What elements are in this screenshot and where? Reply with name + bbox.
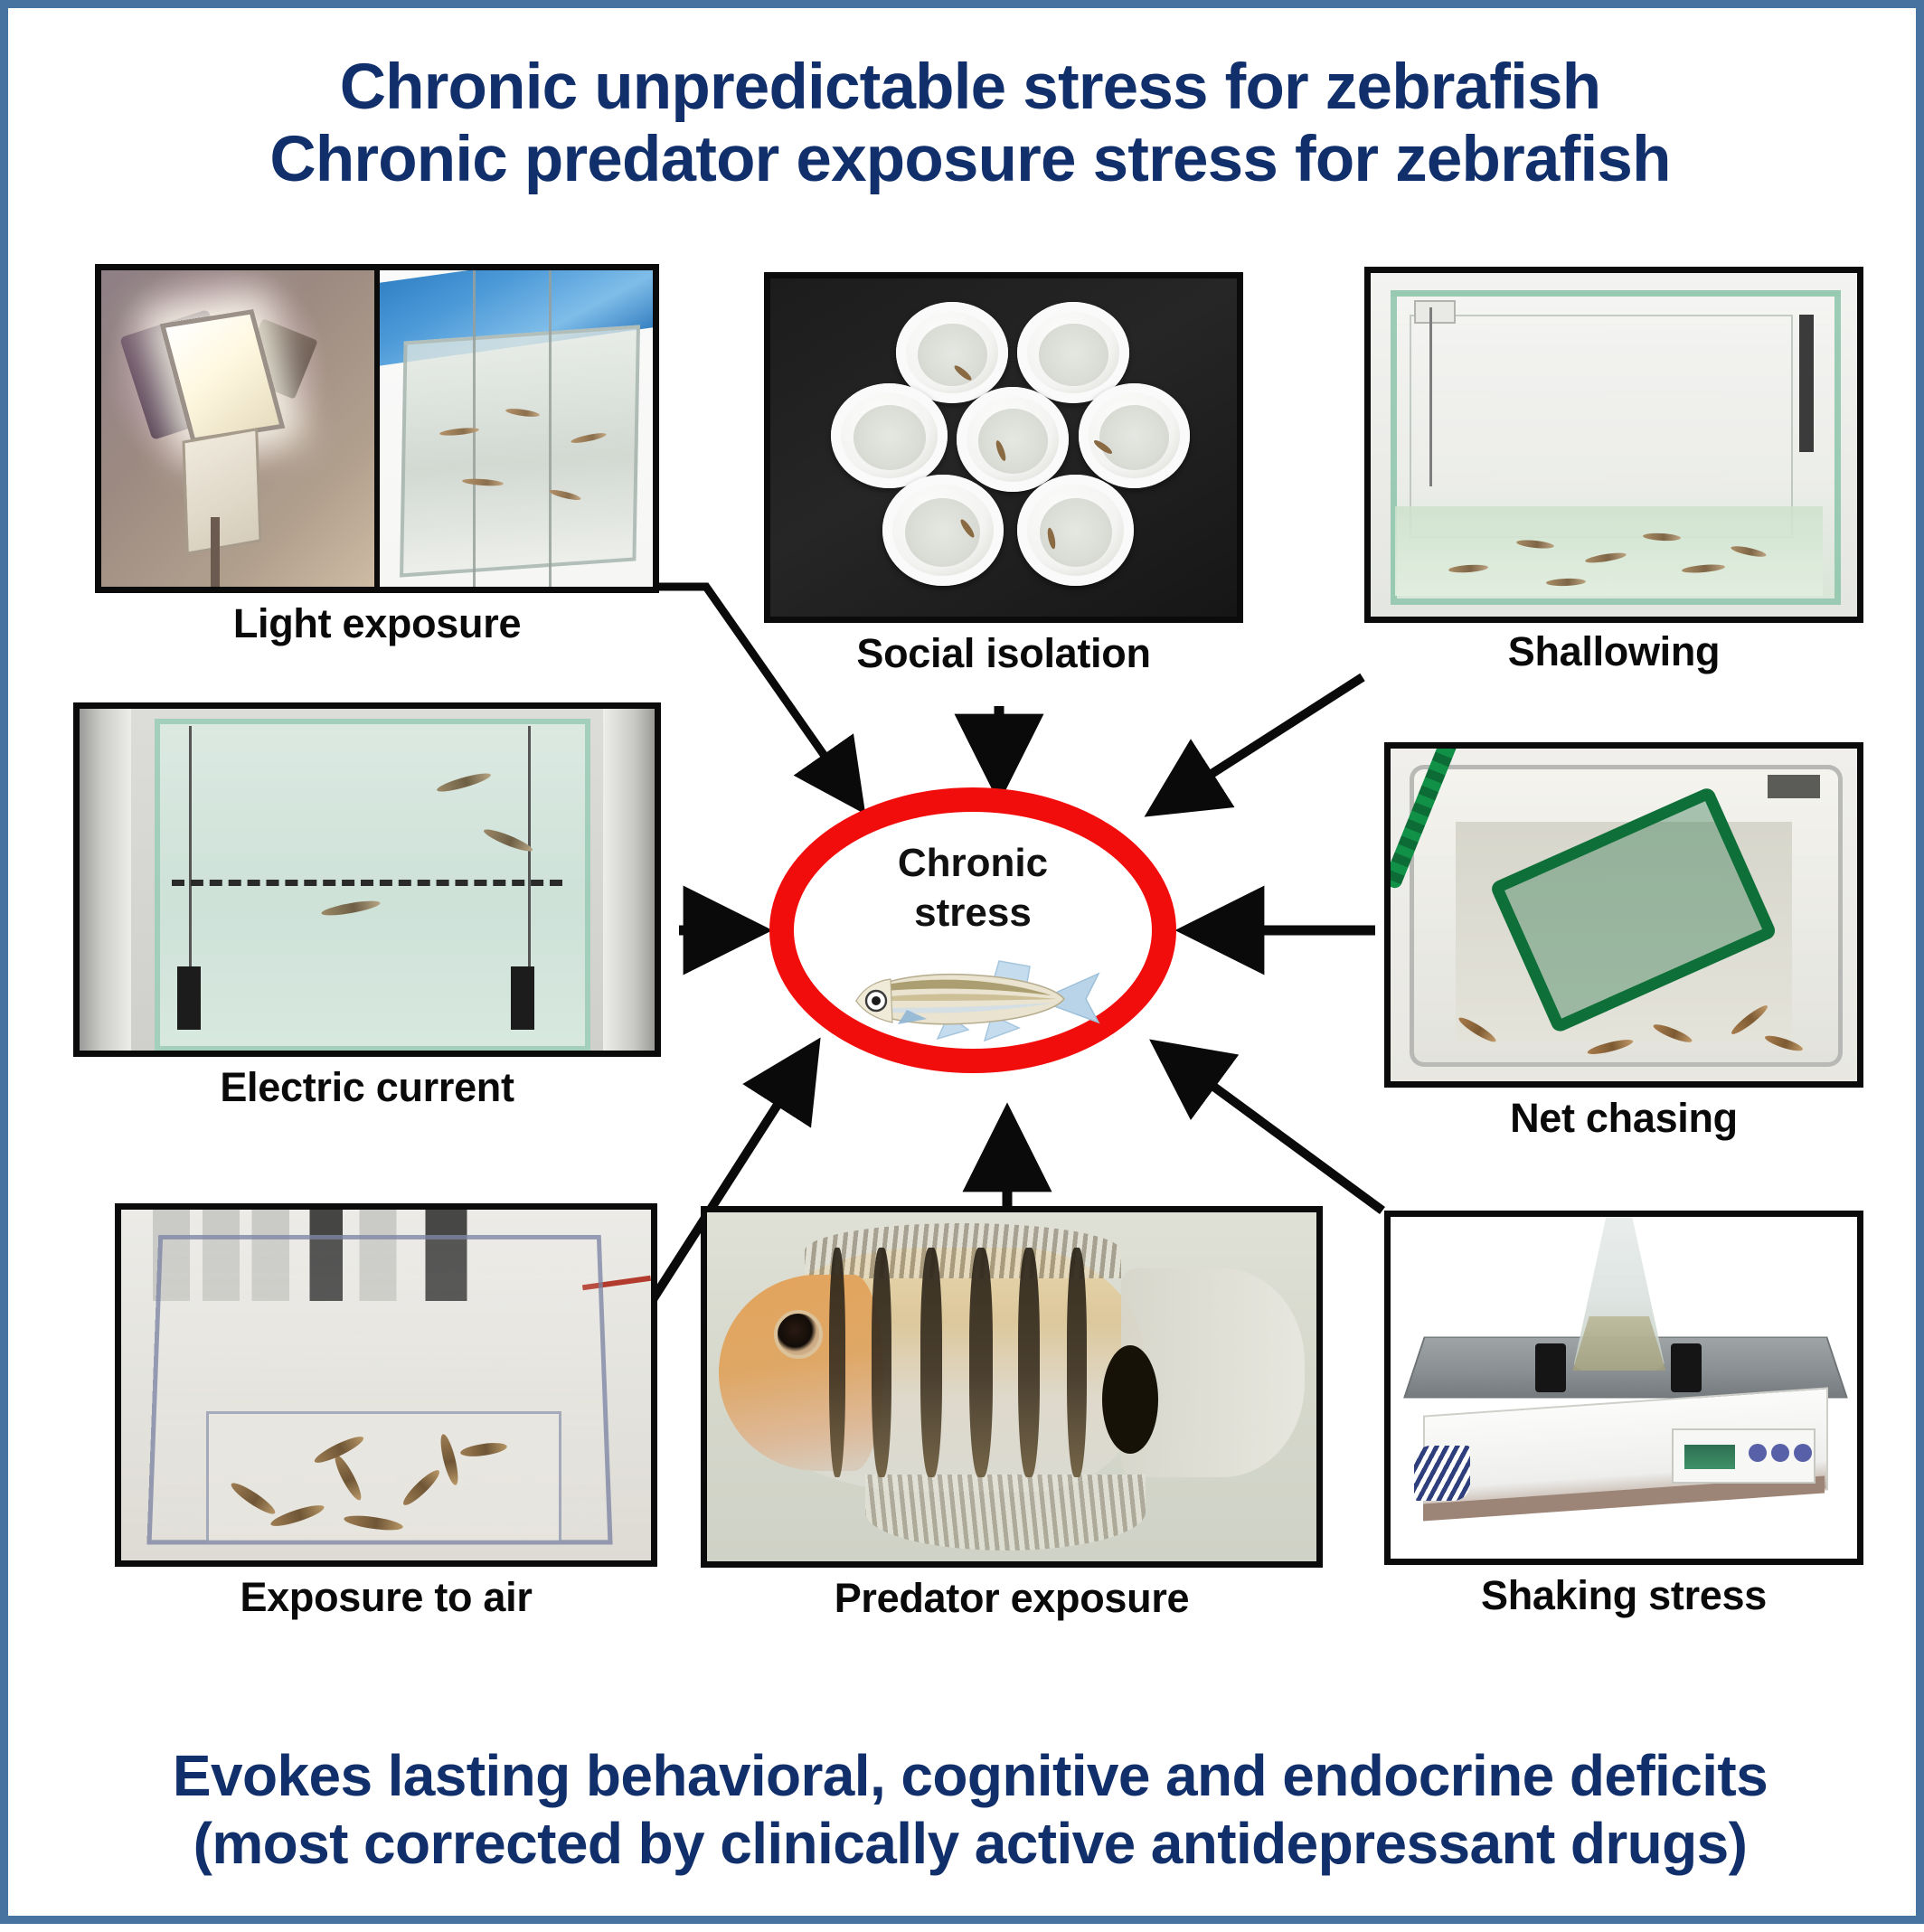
panel-label-shaking-stress: Shaking stress bbox=[1384, 1572, 1863, 1619]
panel-shallowing: Shallowing bbox=[1364, 267, 1863, 654]
central-chronic-stress-node: Chronic stress bbox=[769, 787, 1176, 1073]
footer-line-1: Evokes lasting behavioral, cognitive and… bbox=[8, 1742, 1924, 1810]
panel-label-electric-current: Electric current bbox=[73, 1064, 661, 1111]
figure-root: Chronic unpredictable stress for zebrafi… bbox=[0, 0, 1924, 1924]
footer-line-2: (most corrected by clinically active ant… bbox=[8, 1810, 1924, 1878]
title-line-1: Chronic unpredictable stress for zebrafi… bbox=[8, 52, 1924, 124]
sub-image-lamp bbox=[101, 270, 380, 587]
panel-image-social-isolation bbox=[764, 272, 1243, 623]
panel-label-exposure-to-air: Exposure to air bbox=[115, 1574, 657, 1621]
panel-label-predator-exposure: Predator exposure bbox=[701, 1575, 1323, 1622]
panel-image-exposure-to-air bbox=[115, 1203, 657, 1567]
panel-image-net-chasing bbox=[1384, 742, 1863, 1088]
figure-footer: Evokes lasting behavioral, cognitive and… bbox=[8, 1742, 1924, 1878]
panel-light-exposure: Light exposure bbox=[95, 264, 659, 626]
panel-label-net-chasing: Net chasing bbox=[1384, 1095, 1863, 1142]
sub-image-illuminated-tank bbox=[380, 270, 653, 587]
arrow-shallowing bbox=[1156, 677, 1363, 809]
chronic-stress-label-line1: Chronic bbox=[769, 838, 1176, 888]
panel-image-shaking-stress bbox=[1384, 1211, 1863, 1565]
panel-net-chasing: Net chasing bbox=[1384, 742, 1863, 1122]
panel-label-shallowing: Shallowing bbox=[1364, 628, 1863, 675]
panel-shaking-stress: Shaking stress bbox=[1384, 1211, 1863, 1599]
panel-exposure-to-air: Exposure to air bbox=[115, 1203, 657, 1599]
arrow-shaking-stress bbox=[1161, 1048, 1382, 1211]
panel-image-light-exposure bbox=[95, 264, 659, 593]
panel-image-shallowing bbox=[1364, 267, 1863, 623]
panel-label-social-isolation: Social isolation bbox=[764, 630, 1243, 677]
figure-title: Chronic unpredictable stress for zebrafi… bbox=[8, 52, 1924, 196]
panel-electric-current: Electric current bbox=[73, 702, 661, 1091]
chronic-stress-label: Chronic stress bbox=[769, 838, 1176, 938]
panel-image-predator-exposure bbox=[701, 1206, 1323, 1568]
chronic-stress-label-line2: stress bbox=[769, 888, 1176, 938]
panel-image-electric-current bbox=[73, 702, 661, 1057]
zebrafish-icon bbox=[840, 956, 1102, 1042]
title-line-2: Chronic predator exposure stress for zeb… bbox=[8, 124, 1924, 196]
panel-social-isolation: Social isolation bbox=[764, 272, 1243, 652]
panel-label-light-exposure: Light exposure bbox=[95, 600, 659, 647]
panel-predator-exposure: Predator exposure bbox=[701, 1206, 1323, 1599]
